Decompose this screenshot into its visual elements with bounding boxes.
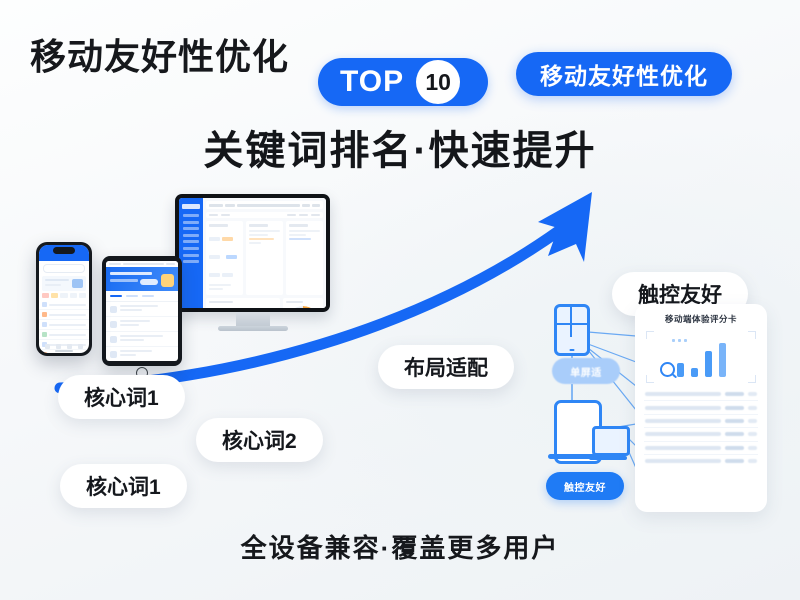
monitor-stand xyxy=(236,312,270,326)
scorecard-chart xyxy=(646,331,756,383)
top-badge-word: TOP xyxy=(318,67,416,97)
top-badge-rank: 10 xyxy=(416,60,460,104)
page-subtitle: 关键词排名·快速提升 xyxy=(0,118,800,176)
phone-tabbar xyxy=(39,344,89,349)
monitor-base xyxy=(218,326,288,331)
single-screen-pill: 单屏适 xyxy=(552,358,620,384)
scorecard-row xyxy=(644,455,758,467)
scorecard-row xyxy=(644,415,758,428)
device-mockup-group xyxy=(20,190,340,390)
dashboard-line-chart xyxy=(206,298,280,309)
dashboard-card xyxy=(286,221,323,295)
dashboard-topbar xyxy=(206,201,323,209)
scorecard-title: 移动端体验评分卡 xyxy=(644,313,758,325)
touch-friendly-mini-pill: 触控友好 xyxy=(546,472,624,500)
scorecard-row xyxy=(644,428,758,441)
scorecard-row xyxy=(644,388,758,401)
dashboard-donut-chart xyxy=(283,298,323,309)
keyword-pill[interactable]: 核心词1 xyxy=(60,464,187,508)
scorecard-row xyxy=(644,442,758,455)
desktop-dashboard-screen xyxy=(179,198,326,308)
phone-home-indicator xyxy=(55,350,73,352)
footer-tagline: 全设备兼容·覆盖更多用户 xyxy=(0,528,800,565)
desktop-monitor-mockup xyxy=(175,194,330,329)
header-tag-pill: 移动友好性优化 xyxy=(516,52,732,96)
mobile-scorecard-panel: 移动端体验评分卡 xyxy=(635,304,767,512)
keyword-pill[interactable]: 核心词2 xyxy=(196,418,323,462)
phone-mockup xyxy=(36,242,92,356)
keyword-pill[interactable]: 核心词1 xyxy=(58,375,185,419)
scorecard-row xyxy=(644,401,758,414)
phone-search-bar xyxy=(43,264,85,273)
dashboard-sidebar xyxy=(179,198,203,308)
tablet-screen xyxy=(106,261,178,361)
phone-hero-card xyxy=(42,276,86,291)
tablet-banner xyxy=(106,267,178,291)
mobile-experience-diagram: 单屏适 触控友好 移动端体验评分卡 xyxy=(540,300,780,515)
phone-tag-row xyxy=(39,293,89,300)
poster-canvas: 移动友好性优化 TOP 10 移动友好性优化 关键词排名·快速提升 xyxy=(0,0,800,600)
page-title: 移动友好性优化 xyxy=(30,28,289,80)
phone-notch xyxy=(53,247,75,254)
small-phone-icon xyxy=(554,304,590,356)
device-base-bar xyxy=(548,454,602,459)
phone-screen xyxy=(39,245,89,353)
top-rank-badge: TOP 10 xyxy=(318,58,488,106)
dashboard-card xyxy=(206,221,243,295)
tablet-mockup xyxy=(102,256,182,366)
dashboard-tabs xyxy=(206,212,323,218)
dashboard-card xyxy=(246,221,283,295)
magnifier-icon xyxy=(660,362,675,377)
layout-adaptation-pill[interactable]: 布局适配 xyxy=(378,345,514,389)
